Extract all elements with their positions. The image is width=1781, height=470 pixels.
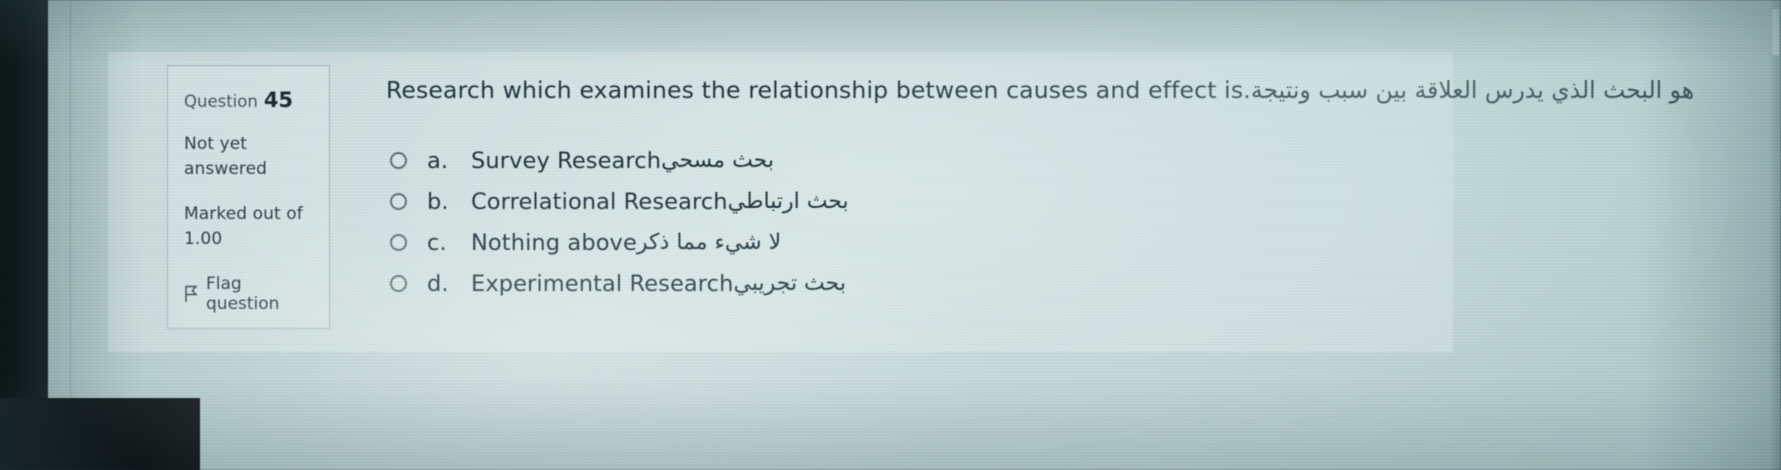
answer-label-ar: بحث ارتباطي: [728, 189, 849, 214]
answer-letter: d.: [427, 271, 471, 297]
answer-option-b[interactable]: b. Correlational Research بحث ارتباطي: [390, 181, 1443, 222]
question-state: Not yet answered: [184, 132, 313, 182]
radio-unchecked-icon[interactable]: [390, 193, 407, 210]
answer-label-en: Nothing above: [471, 230, 637, 256]
answer-option-a[interactable]: a. Survey Research بحث مسحي: [390, 140, 1443, 181]
quiz-question-block: Question45 Not yet answered Marked out o…: [108, 52, 1453, 352]
vertical-scrollbar[interactable]: [1771, 0, 1781, 470]
flag-question-button[interactable]: Flag question: [184, 274, 313, 314]
question-info-panel: Question45 Not yet answered Marked out o…: [167, 65, 330, 329]
question-content: Research which examines the relationship…: [380, 74, 1443, 304]
browser-screen-content: Question45 Not yet answered Marked out o…: [48, 0, 1781, 470]
monitor-bezel-bottom: [0, 398, 200, 470]
radio-unchecked-icon[interactable]: [390, 275, 407, 292]
answer-option-d[interactable]: d. Experimental Research بحث تجريبي: [390, 263, 1443, 304]
answer-option-c[interactable]: c. Nothing above لا شيء مما ذكر: [390, 222, 1443, 263]
photographed-screen: Question45 Not yet answered Marked out o…: [0, 0, 1781, 470]
question-number-value: 45: [264, 88, 293, 112]
answer-options-list: a. Survey Research بحث مسحي b. Correlati…: [380, 140, 1443, 304]
question-marks-label: Marked out of: [184, 202, 313, 227]
question-number-label: Question: [184, 92, 258, 111]
radio-unchecked-icon[interactable]: [390, 152, 407, 169]
answer-letter: a.: [427, 148, 471, 174]
question-state-line2: answered: [184, 157, 313, 182]
answer-letter: c.: [427, 230, 471, 256]
answer-label-en: Experimental Research: [471, 271, 734, 297]
question-number-row: Question45: [184, 88, 313, 112]
flag-question-label: Flag question: [206, 274, 313, 314]
flag-outline-icon: [184, 285, 198, 303]
answer-label-ar: بحث تجريبي: [734, 271, 846, 296]
answer-label-ar: بحث مسحي: [661, 148, 774, 173]
question-marks: Marked out of 1.00: [184, 202, 313, 252]
answer-label-en: Survey Research: [471, 148, 661, 174]
scrollbar-thumb[interactable]: [1771, 8, 1780, 56]
answer-letter: b.: [427, 189, 471, 215]
answer-label-en: Correlational Research: [471, 189, 728, 215]
radio-unchecked-icon[interactable]: [390, 234, 407, 251]
answer-label-ar: لا شيء مما ذكر: [637, 230, 781, 255]
question-text: Research which examines the relationship…: [380, 74, 1443, 106]
question-marks-value: 1.00: [184, 227, 313, 252]
question-state-line1: Not yet: [184, 132, 313, 157]
